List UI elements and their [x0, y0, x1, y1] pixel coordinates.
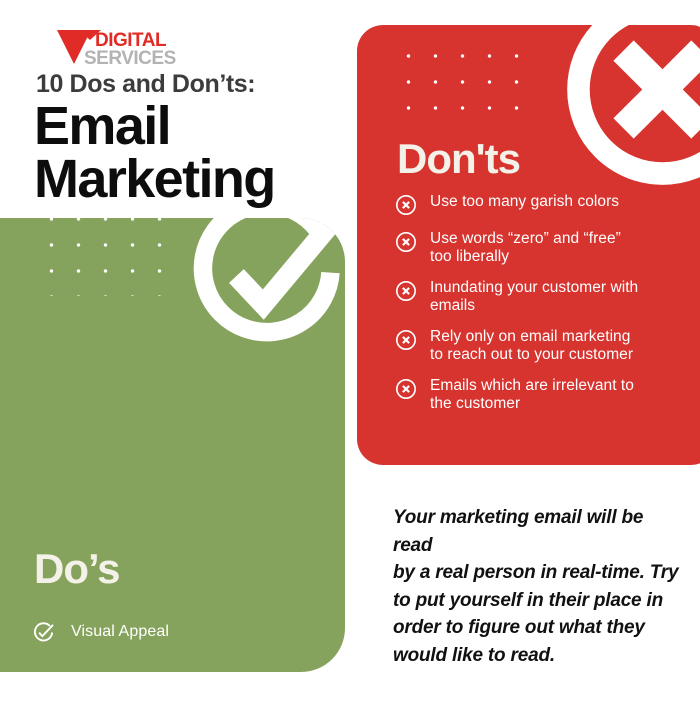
list-item[interactable]: Rely only on email marketing to reach ou…: [395, 328, 700, 363]
logo-word-services: SERVICES: [84, 48, 176, 68]
list-item[interactable]: Emails which are irrelevant to the custo…: [395, 377, 700, 412]
infographic-canvas: DIGITAL SERVICES 10 Dos and Don’ts: Emai…: [0, 0, 700, 703]
list-item[interactable]: Use too many garish colors: [395, 193, 700, 216]
list-item[interactable]: Good Writing: [32, 657, 322, 672]
check-circle-icon: [32, 621, 55, 644]
list-item-label: Visual Appeal: [71, 623, 169, 641]
check-circle-icon-large: [186, 218, 345, 360]
list-item-label: Rely only on email marketing to reach ou…: [430, 328, 633, 363]
dot-grid-pattern-red: [395, 43, 535, 118]
header-subtitle: 10 Dos and Don’ts:: [36, 70, 255, 99]
donts-list: Use too many garish colors Use words “ze…: [395, 193, 700, 426]
page-title: Email Marketing: [34, 100, 275, 206]
x-circle-icon: [395, 329, 417, 351]
dos-list: Visual Appeal Good Writing: [32, 607, 322, 672]
donts-panel: Don'ts Use too many garish colors: [357, 25, 700, 465]
x-circle-icon-large: [560, 25, 700, 192]
check-circle-icon: [32, 671, 55, 673]
list-item[interactable]: Use words “zero” and “free” too liberall…: [395, 230, 700, 265]
brand-logo: DIGITAL SERVICES: [57, 28, 217, 68]
x-circle-icon: [395, 231, 417, 253]
list-item-label: Use too many garish colors: [430, 193, 619, 211]
list-item[interactable]: Visual Appeal: [32, 607, 322, 657]
donts-heading: Don'ts: [397, 135, 520, 183]
list-item-label: Inundating your customer with emails: [430, 279, 638, 314]
dos-heading: Do’s: [34, 545, 119, 593]
list-item-label: Use words “zero” and “free” too liberall…: [430, 230, 621, 265]
x-circle-icon: [395, 280, 417, 302]
x-circle-icon: [395, 378, 417, 400]
quote-text: Your marketing email will be read by a r…: [393, 504, 683, 669]
x-circle-icon: [395, 194, 417, 216]
list-item-label: Emails which are irrelevant to the custo…: [430, 377, 634, 412]
dot-grid-pattern-green: [38, 218, 173, 296]
dos-panel: Do’s Visual Appeal Good: [0, 218, 345, 672]
list-item[interactable]: Inundating your customer with emails: [395, 279, 700, 314]
